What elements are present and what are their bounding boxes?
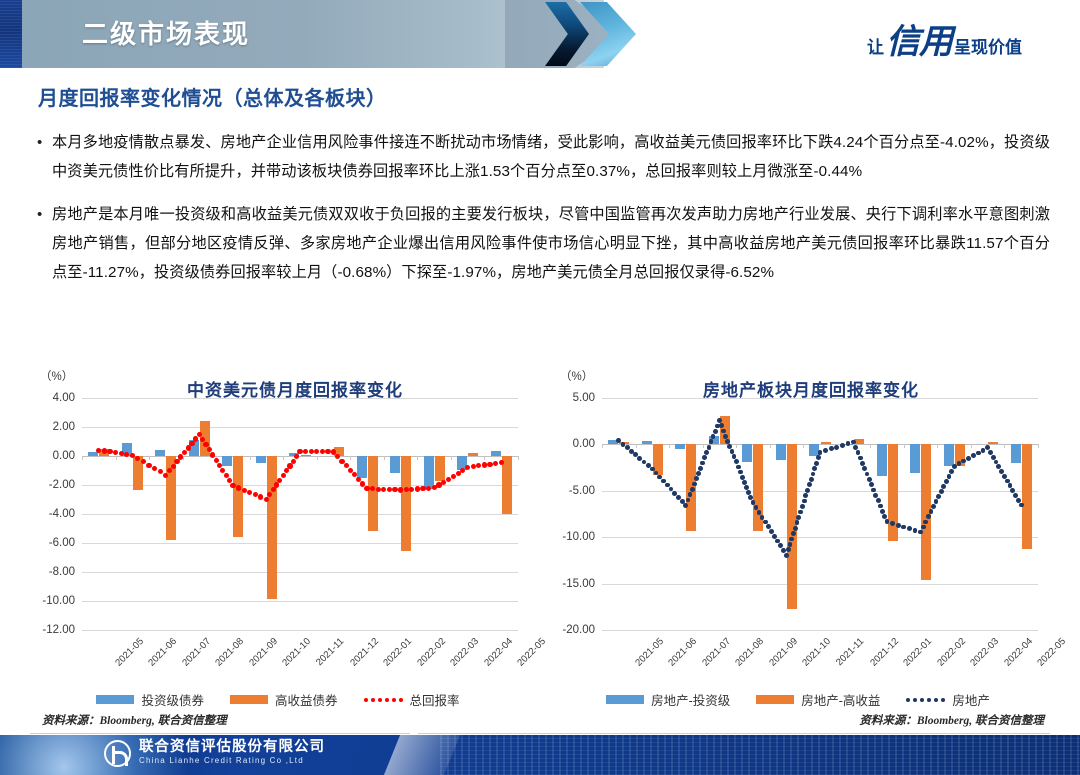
x-axis-tick-label: 2021-06 [147, 636, 180, 669]
axis-tick [384, 456, 385, 460]
y-axis-tick-label: -4.00 [49, 508, 75, 520]
chart-line-dot [152, 466, 157, 471]
chart-line-dot [364, 486, 369, 491]
chart-bar [424, 456, 434, 489]
chart-line-dot [814, 461, 819, 466]
chart-bar [1022, 444, 1032, 549]
chart-source-left: 资料来源：Bloomberg, 联合资信整理 [42, 712, 227, 728]
axis-tick [350, 456, 351, 460]
chart-line-dot [696, 471, 701, 476]
chart-line-dot [971, 453, 976, 458]
x-axis-tick-label: 2021-07 [700, 636, 733, 669]
x-axis-tick-label: 2021-10 [801, 636, 834, 669]
chart-line-dot [420, 486, 425, 491]
chart-line-dot [723, 434, 728, 439]
chart-line-dot [816, 455, 821, 460]
footer-slash-decoration [384, 735, 460, 775]
legend-item[interactable]: 投资级债券 [96, 690, 204, 709]
chart-line-dot [882, 514, 887, 519]
chart-line-dot [796, 515, 801, 520]
chart-line-dot [284, 468, 289, 473]
x-axis-tick-label: 2022-04 [1002, 636, 1035, 669]
y-axis-tick-label: -10.00 [562, 531, 595, 543]
list-item: • 房地产是本月唯一投资级和高收益美元债双双收于负回报的主要发行板块，尽管中国监… [34, 200, 1050, 287]
chart-line-dot [107, 449, 112, 454]
chart-line-dot [939, 489, 944, 494]
axis-tick [518, 456, 519, 460]
axis-tick [250, 456, 251, 460]
chart-line-dot [471, 464, 476, 469]
gridline [82, 427, 518, 428]
chart-line-dot [862, 466, 867, 471]
legend-label: 总回报率 [410, 690, 460, 709]
axis-tick [803, 444, 804, 448]
chart-line-dot [793, 526, 798, 531]
chart-x-axis-labels: 2021-052021-062021-072021-082021-092021-… [602, 634, 1038, 690]
axis-tick [602, 444, 603, 448]
chart-line-dot [692, 482, 697, 487]
slogan-suffix: 呈现价值 [954, 33, 1022, 58]
chart-line-dot [700, 461, 705, 466]
chart-line-dot [264, 497, 269, 502]
legend-label: 高收益债券 [275, 690, 338, 709]
chart-line-dot [713, 429, 718, 434]
chart-line-dot [734, 459, 739, 464]
chart-line-dot [803, 493, 808, 498]
chart-line-dot [277, 478, 282, 483]
chart-line-dot [936, 494, 941, 499]
chart-line-dot [690, 487, 695, 492]
y-axis-tick-label: 0.00 [573, 438, 595, 450]
axis-tick [971, 444, 972, 448]
axis-tick [937, 444, 938, 448]
chart-line-dot [210, 452, 215, 457]
chart-line-dot [281, 473, 286, 478]
chart-line-dot [476, 463, 481, 468]
chart-bar [155, 450, 165, 456]
chart-line-dot [809, 477, 814, 482]
chart-line-dot [725, 439, 730, 444]
legend-swatch [96, 695, 134, 704]
axis-tick [116, 456, 117, 460]
chart-line-dot [952, 464, 957, 469]
chart-line-dot [297, 449, 302, 454]
legend-item[interactable]: 房地产-投资级 [606, 690, 730, 709]
chart-line-dot [772, 534, 777, 539]
legend-item[interactable]: 高收益债券 [230, 690, 338, 709]
page-title: 二级市场表现 [82, 14, 250, 51]
chart-line-dot [867, 477, 872, 482]
chart-bar [821, 442, 831, 444]
chart-line-dot [309, 449, 314, 454]
chart-bar [1011, 444, 1021, 462]
chart-bar [675, 444, 685, 449]
brand-slogan: 让 信用 呈现价值 [867, 14, 1022, 63]
chart-line-dot [1002, 474, 1007, 479]
chart-line-dot [398, 487, 403, 492]
chart-x-axis-labels: 2021-052021-062021-072021-082021-092021-… [82, 634, 518, 690]
gridline [602, 398, 1038, 399]
axis-tick [149, 456, 150, 460]
y-axis-tick-label: -12.00 [42, 624, 75, 636]
chart-plot-area: 4.002.000.00-2.00-4.00-6.00-8.00-10.00-1… [82, 398, 518, 630]
chart-line-dot [146, 463, 151, 468]
axis-tick [484, 456, 485, 460]
chart-bar [642, 441, 652, 445]
chart-line-dot [856, 450, 861, 455]
chart-line-dot [812, 466, 817, 471]
y-axis-tick-label: 4.00 [53, 392, 75, 404]
chart-line-dot [791, 531, 796, 536]
legend-swatch [606, 695, 644, 704]
gridline [82, 572, 518, 573]
chart-bar [910, 444, 920, 473]
chart-line-dot [704, 450, 709, 455]
chart-line-dot [947, 474, 952, 479]
x-axis-tick-label: 2021-07 [180, 636, 213, 669]
chart-line-dot [314, 449, 319, 454]
chart-line-dot [482, 462, 487, 467]
chart-legend: 房地产-投资级房地产-高收益房地产 [542, 690, 1054, 709]
chart-line-dot [158, 469, 163, 474]
chart-bar [301, 455, 311, 456]
chart-line-dot [976, 451, 981, 456]
axis-tick [1038, 444, 1039, 448]
chart-line-dot [865, 472, 870, 477]
chart-line-dot [876, 498, 881, 503]
chart-line-dot [1016, 498, 1021, 503]
x-axis-tick-label: 2022-03 [448, 636, 481, 669]
x-axis-tick-label: 2022-03 [968, 636, 1001, 669]
x-axis-tick-label: 2021-12 [868, 636, 901, 669]
gridline [602, 630, 1038, 631]
chart-line-dot [426, 486, 431, 491]
chart-bar [267, 456, 277, 599]
chart-line-dot [325, 449, 330, 454]
chart-line-dot [1019, 503, 1024, 508]
chart-line-dot [738, 470, 743, 475]
chart-line-dot [130, 453, 135, 458]
chart-bar [357, 456, 367, 478]
chart-line-dot [465, 465, 470, 470]
chart-line-dot [730, 449, 735, 454]
chart-line-dot [811, 472, 816, 477]
chart-bar [988, 442, 998, 445]
gridline [82, 485, 518, 486]
chart-line-dot [786, 547, 791, 552]
bullet-text: 本月多地疫情散点暴发、房地产企业信用风险事件接连不断扰动市场情绪，受此影响，高收… [52, 128, 1050, 186]
company-name-en: China Lianhe Credit Rating Co ,Ltd [139, 756, 325, 766]
chart-line-dot [381, 487, 386, 492]
chart-plot-area: 5.000.00-5.00-10.00-15.00-20.00 [602, 398, 1038, 630]
gridline [82, 398, 518, 399]
chart-line-dot [907, 526, 912, 531]
slide-page: 二级市场表现 让 信用 呈现价值 月度回报率变化情况（总体及各板块） • 本月多… [0, 0, 1080, 775]
chart-legend: 投资级债券高收益债券总回报率 [22, 690, 534, 709]
axis-tick [703, 444, 704, 448]
chart-line-dot [253, 492, 258, 497]
chart-line-dot [921, 525, 926, 530]
x-axis-tick-label: 2021-11 [834, 636, 866, 668]
chart-line-dot [493, 461, 498, 466]
divider-right [418, 733, 1050, 734]
legend-item[interactable]: 房地产 [906, 690, 990, 709]
chart-line-dot [869, 482, 874, 487]
chart-line-dot [287, 463, 292, 468]
chart-line-dot [807, 482, 812, 487]
chart-bar [401, 456, 411, 551]
axis-tick [451, 456, 452, 460]
axis-tick [636, 444, 637, 448]
chart-line-dot [186, 445, 191, 450]
y-axis-tick-label: 0.00 [53, 450, 75, 462]
x-axis-tick-label: 2022-01 [901, 636, 934, 669]
chart-line-dot [740, 475, 745, 480]
chart-line-dot [258, 494, 263, 499]
x-axis-tick-label: 2022-02 [935, 636, 968, 669]
chart-line-dot [784, 553, 789, 558]
chart-line-dot [829, 446, 834, 451]
chart-line-dot [171, 464, 176, 469]
legend-label: 投资级债券 [141, 690, 204, 709]
gridline [82, 630, 518, 631]
x-axis-tick-label: 2021-12 [348, 636, 381, 669]
chart-line-dot [744, 485, 749, 490]
axis-tick [870, 444, 871, 448]
y-axis-tick-label: -6.00 [49, 537, 75, 549]
chart-line-dot [320, 449, 325, 454]
chart-line-dot [499, 460, 504, 465]
lianhe-logo-icon [104, 740, 131, 767]
chart-line-dot [931, 504, 936, 509]
y-axis-tick-label: -10.00 [42, 595, 75, 607]
chart-line-dot [717, 418, 722, 423]
chart-line-dot [834, 445, 839, 450]
chart-line-dot [113, 450, 118, 455]
gridline [602, 491, 1038, 492]
bullet-list: • 本月多地疫情散点暴发、房地产企业信用风险事件接连不断扰动市场情绪，受此影响，… [34, 128, 1050, 301]
gridline [602, 584, 1038, 585]
chart-bar [776, 444, 786, 460]
chart-line-dot [818, 450, 823, 455]
chart-line-dot [694, 476, 699, 481]
chart-line-dot [178, 454, 183, 459]
legend-swatch [756, 695, 794, 704]
y-axis-tick-label: 2.00 [53, 421, 75, 433]
x-axis-tick-label: 2021-05 [633, 636, 666, 669]
y-axis-tick-label: 5.00 [573, 392, 595, 404]
chart-line-dot [141, 459, 146, 464]
gridline [602, 537, 1038, 538]
axis-tick [904, 444, 905, 448]
chart-line-dot [451, 474, 456, 479]
chart-line-dot [274, 482, 279, 487]
chart-line-dot [182, 450, 187, 455]
chart-bar [233, 456, 243, 537]
chart-line-dot [742, 480, 747, 485]
chart-line-dot [732, 454, 737, 459]
x-axis-tick-label: 2022-04 [482, 636, 515, 669]
y-axis-tick-label: -5.00 [569, 485, 595, 497]
legend-label: 房地产-高收益 [801, 690, 880, 709]
x-axis-tick-label: 2021-05 [113, 636, 146, 669]
chart-bar [435, 456, 445, 481]
axis-tick [417, 456, 418, 460]
chart-line-dot [878, 504, 883, 509]
company-name-cn: 联合资信评估股份有限公司 [139, 740, 325, 756]
zero-axis-line [602, 444, 1038, 445]
chart-line-dot [727, 444, 732, 449]
chart-bar [742, 444, 752, 461]
chart-line-dot [934, 499, 939, 504]
axis-tick [736, 444, 737, 448]
legend-dotted-swatch [364, 698, 403, 702]
chart-bar [368, 456, 378, 531]
slide-header: 二级市场表现 让 信用 呈现价值 [0, 0, 1080, 68]
chart-line-dot [802, 499, 807, 504]
axis-tick [770, 444, 771, 448]
divider-left [30, 733, 410, 734]
slogan-emphasis: 信用 [886, 14, 952, 63]
chart-line-dot [707, 445, 712, 450]
chart-line-dot [873, 493, 878, 498]
gridline [82, 601, 518, 602]
chart-panel-left: （%） 中资美元债月度回报率变化 4.002.000.00-2.00-4.00-… [22, 368, 534, 730]
chart-line-dot [698, 466, 703, 471]
chart-line-dot [174, 459, 179, 464]
chart-line-dot [788, 542, 793, 547]
chart-line-dot [949, 469, 954, 474]
chart-line-dot [853, 445, 858, 450]
chart-line-dot [858, 456, 863, 461]
chart-line-dot [415, 486, 420, 491]
y-axis-tick-label: -20.00 [562, 624, 595, 636]
chart-line-dot [291, 459, 296, 464]
chart-line-dot [344, 463, 349, 468]
gridline [82, 543, 518, 544]
slide-footer: 联合资信评估股份有限公司 China Lianhe Credit Rating … [0, 735, 1080, 775]
chart-bar [944, 444, 954, 466]
chart-bar [256, 456, 266, 463]
slogan-prefix: 让 [867, 33, 884, 58]
header-left-accent [0, 0, 22, 68]
chart-line-dot [189, 441, 194, 446]
x-axis-tick-label: 2022-02 [415, 636, 448, 669]
chart-panel-right: （%） 房地产板块月度回报率变化 5.000.00-5.00-10.00-15.… [542, 368, 1054, 730]
x-axis-tick-label: 2021-09 [767, 636, 800, 669]
chart-line-dot [242, 488, 247, 493]
chart-line-dot [230, 483, 235, 488]
x-axis-tick-label: 2022-05 [1036, 636, 1069, 669]
chart-line-dot [119, 451, 124, 456]
chart-bar [491, 451, 501, 456]
axis-tick [1004, 444, 1005, 448]
chart-line-dot [929, 509, 934, 514]
chart-line-dot [896, 523, 901, 528]
chart-source-right: 资料来源：Bloomberg, 联合资信整理 [859, 712, 1044, 728]
chart-bar [468, 453, 478, 456]
chart-line-dot [702, 455, 707, 460]
chart-line-dot [890, 521, 895, 526]
x-axis-tick-label: 2021-08 [734, 636, 767, 669]
chart-line-dot [760, 515, 765, 520]
zero-axis-line [82, 456, 518, 457]
chart-line-dot [901, 525, 906, 530]
chart-line-dot [795, 520, 800, 525]
y-axis-tick-label: -2.00 [49, 479, 75, 491]
legend-item[interactable]: 房地产-高收益 [756, 690, 880, 709]
bullet-text: 房地产是本月唯一投资级和高收益美元债双双收于负回报的主要发行板块，尽管中国监管再… [52, 200, 1050, 287]
chart-line-dot [102, 448, 107, 453]
bullet-marker-icon: • [34, 128, 52, 186]
chart-line-dot [944, 479, 949, 484]
y-axis-tick-label: -15.00 [562, 578, 595, 590]
chart-line-dot [303, 449, 308, 454]
chart-line-dot [823, 448, 828, 453]
chart-line-dot [736, 465, 741, 470]
chart-line-dot [193, 436, 198, 441]
legend-item[interactable]: 总回报率 [364, 690, 460, 709]
x-axis-tick-label: 2021-10 [281, 636, 314, 669]
chart-line-dot [387, 487, 392, 492]
chart-bar [877, 444, 887, 476]
list-item: • 本月多地疫情散点暴发、房地产企业信用风险事件接连不断扰动市场情绪，受此影响，… [34, 128, 1050, 186]
chart-line-dot [966, 456, 971, 461]
legend-label: 房地产 [952, 690, 990, 709]
chart-line-dot [913, 528, 918, 533]
x-axis-tick-label: 2022-01 [381, 636, 414, 669]
chart-line-dot [840, 443, 845, 448]
chart-line-dot [800, 504, 805, 509]
chart-line-dot [880, 509, 885, 514]
chart-line-dot [860, 461, 865, 466]
chart-line-dot [846, 441, 851, 446]
chart-line-dot [294, 454, 299, 459]
chart-line-dot [941, 484, 946, 489]
legend-label: 房地产-投资级 [651, 690, 730, 709]
axis-tick [82, 456, 83, 460]
chart-line-dot [798, 510, 803, 515]
x-axis-tick-label: 2021-06 [667, 636, 700, 669]
chart-line-dot [487, 462, 492, 467]
gridline [82, 514, 518, 515]
section-title: 月度回报率变化情况（总体及各板块） [38, 82, 387, 111]
legend-swatch [230, 695, 268, 704]
x-axis-tick-label: 2021-08 [214, 636, 247, 669]
company-logo: 联合资信评估股份有限公司 China Lianhe Credit Rating … [104, 740, 325, 767]
chart-line-dot [392, 487, 397, 492]
chart-line-dot [409, 487, 414, 492]
chart-line-dot [805, 488, 810, 493]
chart-line-dot [247, 490, 252, 495]
chart-line-dot [376, 487, 381, 492]
legend-dotted-swatch [906, 698, 945, 702]
chart-line-dot [214, 458, 219, 463]
chart-line-dot [746, 490, 751, 495]
chart-line-dot [236, 485, 241, 490]
chart-line-dot [683, 503, 688, 508]
bullet-marker-icon: • [34, 200, 52, 287]
chart-bar [390, 456, 400, 473]
chart-line-dot [271, 487, 276, 492]
chart-bar [502, 456, 512, 514]
x-axis-tick-label: 2021-11 [314, 636, 346, 668]
chart-bar [222, 456, 232, 466]
y-axis-tick-label: -8.00 [49, 566, 75, 578]
x-axis-tick-label: 2021-09 [247, 636, 280, 669]
axis-tick [317, 456, 318, 460]
axis-tick [669, 444, 670, 448]
